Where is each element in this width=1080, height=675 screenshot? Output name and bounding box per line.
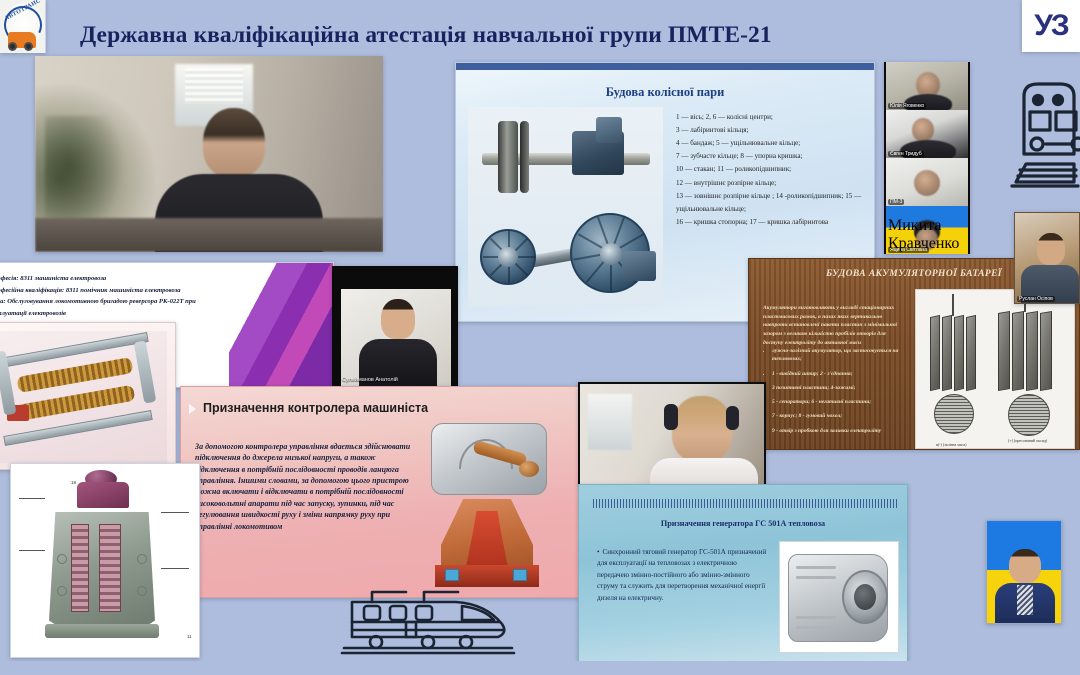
participant-video-wood[interactable]: Руслан Осіпов (1014, 212, 1080, 304)
slide-battery-paragraph: Акумулятори виготовляють у вигляді стаці… (763, 304, 903, 347)
logo-wheel-right-icon (24, 42, 33, 51)
slide-wheel-title: Будова колісної пари (456, 85, 874, 100)
student-shirt (650, 458, 758, 486)
slide-controller-body: За допомогою контролера управління вдаєт… (195, 441, 420, 532)
bullet-item: 9 - отвір з пробкою для заливки електрол… (772, 427, 911, 435)
legend-line: 4 — бандаж; 5 — ущільнювальне кільце; (676, 137, 868, 150)
slide-battery-bullets: лужно-залізний акумулятор, що застосовує… (763, 347, 911, 441)
participant-head (1009, 549, 1041, 583)
wheel-pair-legend: 1 — вісь; 2, 6 — колісні центри; 3 — лаб… (676, 111, 868, 229)
fig-label: в(-) (залізна маса) (936, 442, 966, 447)
speaker-head (203, 108, 265, 178)
contact-stack-left (71, 524, 89, 612)
headphone-right-icon (726, 406, 739, 430)
legend-line: 7 — зубчасте кільце; 8 — упорна кришка; (676, 150, 868, 163)
slide-electric-machine[interactable] (0, 322, 176, 470)
participant-tile[interactable]: ПМ-3 (886, 158, 968, 206)
bottom-strip (0, 661, 1080, 675)
train-front-icon (1010, 74, 1080, 202)
legend-line: 12 — внутрішнє розпірне кільце; (676, 177, 868, 190)
participant-tile[interactable]: Євген Тридуб (886, 110, 968, 158)
participant-name: Сулейманов Анатолій (342, 377, 398, 383)
wheel-pair-diagram (468, 107, 663, 307)
battery-plate-diagram: в(-) (залізна маса) (+) (пресований окси… (915, 289, 1075, 449)
bullet-triangle-icon (189, 404, 196, 414)
participant-name: ПМ-3 (888, 199, 904, 205)
participant-video-strip[interactable]: Юлія Яговенко Євген Тридуб ПМ-3 Яцина Св… (884, 62, 970, 254)
electric-machine-diagram (0, 331, 167, 463)
legend-line: 1 — вісь; 2, 6 — колісні центри; (676, 111, 868, 124)
wheel-left-hub (498, 247, 518, 267)
student-video-center[interactable] (578, 382, 766, 486)
participant-head (381, 299, 415, 339)
main-speaker-video[interactable] (35, 56, 383, 252)
bullet-item: 5 - сепаратори; 6 - негативні пластини; (772, 398, 911, 406)
legend-line: 10 — стакан; 11 — роликопідшипник; (676, 163, 868, 176)
axle-box-cap (596, 117, 622, 143)
ukrzaliznytsia-logo: УЗ (1022, 0, 1080, 52)
legend-line: 13 — зовнішнє розпірне кільце ; 14 -роли… (676, 190, 868, 216)
profession-line: Професія: 8311 машиніста електровоза (0, 273, 227, 285)
generator-photo (779, 541, 899, 653)
axle-assembly-figure (476, 113, 656, 199)
fig-label: (+) (пресований оксид) (1008, 438, 1047, 443)
participant-name: Руслан Осіпов (1017, 296, 1055, 302)
participant-tie (1017, 585, 1033, 615)
wheel-disc-1 (498, 121, 518, 193)
generator-body-text: Синхронний тяговий генератор ГС-501А при… (597, 548, 766, 602)
page-title: Державна кваліфікаційна атестація навчал… (80, 22, 870, 49)
handle-knob (519, 461, 539, 477)
slide-top-band (456, 63, 874, 70)
wheel-right-hub (600, 243, 622, 265)
profession-line: Тема: Обслуговування локомотивною бригад… (0, 296, 227, 319)
slide-controller-title: Призначення контролера машиніста (203, 401, 533, 415)
student-head (672, 396, 732, 462)
logo-wheel-left-icon (8, 42, 17, 51)
controller-faceplate-figure (431, 423, 547, 495)
electric-train-side-icon (340, 582, 520, 660)
bullet-item: 1 - вивідний штир; 2 - з'єднання; (772, 370, 911, 378)
slide-controller-photo[interactable]: 18 11 (10, 463, 200, 658)
window-blur (588, 394, 632, 450)
bullet-item: 7 - корпус; 8 - гумовий чохол; (772, 412, 911, 420)
profession-text: Професія: 8311 машиніста електровоза Про… (0, 273, 227, 319)
slide-generator[interactable]: Призначення генератора ГС 501А тепловоза… (578, 484, 908, 670)
bullet-item: 3 позитивні пластини; 4-зажимі; (772, 384, 911, 392)
participant-video-small[interactable]: Сулейманов Анатолій (332, 266, 458, 402)
headphone-left-icon (664, 404, 678, 430)
cross-section-contact-left (445, 569, 459, 581)
slide-generator-body: •Синхронний тяговий генератор ГС-501А пр… (597, 547, 767, 604)
slide-controller[interactable]: Призначення контролера машиніста За допо… (180, 386, 580, 598)
participant-name: Юлія Яговенко (888, 103, 926, 109)
bullet-item: лужно-залізний акумулятор, що застосовує… (772, 347, 911, 364)
wheelset-figure (474, 203, 660, 303)
profession-line: Професійна кваліфікація: 8311 помічник м… (0, 285, 227, 297)
controller-cross-section-figure (427, 499, 547, 591)
participant-tile[interactable]: Юлія Яговенко (886, 62, 968, 110)
cross-section-contact-right (513, 569, 527, 581)
legend-line: 3 — лабіринтові кільця; (676, 124, 868, 137)
college-logo: АВТОТРАНС (0, 0, 46, 53)
slide-generator-title: Призначення генератора ГС 501А тепловоза (579, 519, 907, 528)
participant-name-bottom: Микита Кравченко (888, 217, 959, 252)
desk-surface (35, 218, 383, 252)
decorative-tick-rule (593, 499, 899, 508)
uz-logo-text: УЗ (1034, 9, 1067, 43)
axle-bracket (622, 251, 656, 281)
participant-name: Євген Тридуб (888, 151, 924, 157)
controller-device-figure (43, 490, 161, 640)
controller-hood (77, 482, 129, 508)
legend-line: 16 — кришка стопорна; 17 — кришка лабіри… (676, 216, 868, 229)
screen-canvas: АВТОТРАНС Державна кваліфікаційна атеста… (0, 0, 1080, 675)
wheel-disc-2 (520, 121, 529, 193)
participant-head (1037, 233, 1065, 265)
generator-shaft (854, 584, 876, 610)
blind-blur (185, 68, 243, 104)
contact-stack-center (99, 524, 121, 612)
video-frame (341, 289, 451, 387)
participant-video-flag[interactable] (986, 520, 1062, 624)
purple-decorative-art (229, 263, 333, 387)
